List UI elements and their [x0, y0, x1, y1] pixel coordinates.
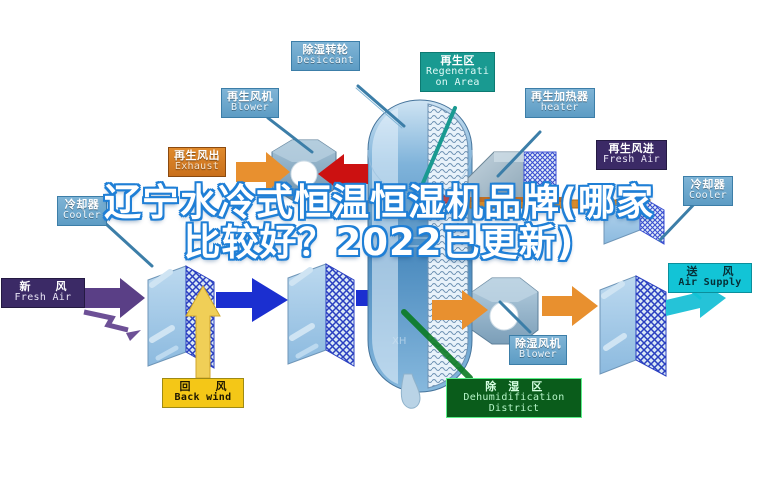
back-wind-inlet-label-en: Back wind	[169, 393, 237, 404]
regeneration-fresh-air-label-en: Fresh Air	[603, 155, 660, 166]
mid-cooler-coil	[288, 264, 354, 366]
regeneration-fresh-air-label: 再生风进 Fresh Air	[596, 140, 667, 170]
dehumidify-district-label: 除 湿 区 Dehumidification District	[446, 378, 582, 418]
supply-coil	[600, 276, 666, 376]
svg-text:XH: XH	[392, 336, 406, 347]
dehumidifier-schematic: XH	[0, 0, 757, 488]
fresh-air-arrows	[84, 278, 145, 341]
desiccant-wheel-body: XH	[368, 100, 472, 392]
desiccant-wheel-label-en: Desiccant	[297, 56, 354, 67]
dehumidify-district-label-en-2: District	[453, 404, 575, 415]
fresh-air-inlet-label: 新 风 Fresh Air	[1, 278, 85, 308]
diagram-canvas: XH	[0, 0, 757, 488]
back-wind-inlet-label: 回 风 Back wind	[162, 378, 244, 408]
regeneration-area-label-en-2: on Area	[426, 78, 489, 89]
cooler-right-label: 冷却器 Cooler	[683, 176, 733, 206]
cooler-left-label-en: Cooler	[63, 211, 101, 222]
heater-supply-pipe	[432, 196, 462, 203]
regeneration-exhaust-label: 再生风出 Exhaust	[168, 147, 226, 177]
regeneration-exhaust-label-en: Exhaust	[174, 162, 220, 173]
desiccant-wheel-label: 除湿转轮 Desiccant	[291, 41, 360, 71]
regeneration-blower-unit	[236, 140, 336, 200]
regeneration-heater-label: 再生加热器 heater	[525, 88, 595, 118]
airflow-arrow-1	[216, 278, 288, 322]
regeneration-heater-label-en: heater	[531, 103, 589, 114]
cooler-left-label: 冷却器 Cooler	[57, 196, 107, 226]
air-supply-outlet-label-en: Air Supply	[675, 278, 745, 289]
air-supply-outlet-label: 送 风 Air Supply	[668, 263, 752, 293]
regeneration-blower-label-en: Blower	[227, 103, 273, 114]
fresh-air-inlet-label-en: Fresh Air	[8, 293, 78, 304]
regeneration-blower-label: 再生风机 Blower	[221, 88, 279, 118]
regeneration-area-label: 再生区 Regenerati on Area	[420, 52, 495, 92]
dehumidify-blower-label-en: Blower	[515, 350, 561, 361]
cooler-right-label-en: Cooler	[689, 191, 727, 202]
dehumidify-blower-label: 除湿风机 Blower	[509, 335, 567, 365]
